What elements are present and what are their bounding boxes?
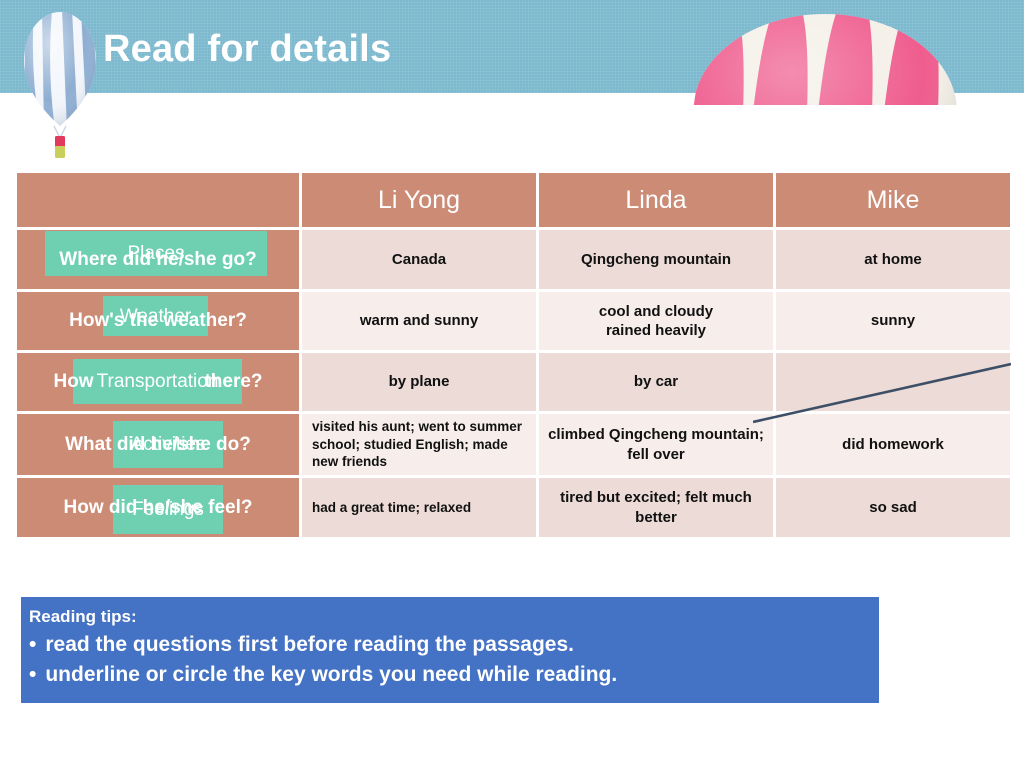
answer-cell: warm and sunny: [302, 292, 536, 350]
question-cell-weather: Weather How's the weather?: [17, 292, 299, 350]
question-cell-activities: Activities What did he/she do?: [17, 414, 299, 475]
table-row: Weather How's the weather? warm and sunn…: [17, 292, 1010, 350]
question-text: How did he/she feel?: [17, 497, 299, 519]
reading-tips-item-text: underline or circle the key words you ne…: [45, 663, 617, 686]
table-row: Places Where did he/she go? Canada Qingc…: [17, 230, 1010, 289]
reading-tips-box: Reading tips: •read the questions first …: [21, 597, 879, 703]
details-table: Li Yong Linda Mike Places Where did he/s…: [14, 170, 1006, 540]
question-text-post: there?: [204, 371, 262, 392]
reading-tips-item: •underline or circle the key words you n…: [29, 660, 879, 690]
header-cell-mike: Mike: [776, 173, 1010, 227]
header-cell-blank: [17, 173, 299, 227]
table-header-row: Li Yong Linda Mike: [17, 173, 1010, 227]
question-text: What did he/she do?: [17, 434, 299, 456]
answer-cell: Qingcheng mountain: [539, 230, 773, 289]
bullet-icon: •: [29, 633, 36, 656]
answer-cell: by plane: [302, 353, 536, 411]
table-row: Feelings How did he/she feel? had a grea…: [17, 478, 1010, 537]
question-cell-places: Places Where did he/she go?: [17, 230, 299, 289]
answer-cell: at home: [776, 230, 1010, 289]
answer-cell: Canada: [302, 230, 536, 289]
answer-cell: sunny: [776, 292, 1010, 350]
answer-cell: visited his aunt; went to summer school;…: [302, 414, 536, 475]
hot-air-balloon-blue-striped-icon: [22, 10, 98, 160]
question-text-pre: How: [53, 371, 93, 392]
page-title: Read for details: [103, 28, 391, 71]
question-cell-feelings: Feelings How did he/she feel?: [17, 478, 299, 537]
answer-cell: cool and cloudyrained heavily: [539, 292, 773, 350]
question-text: Where did he/she go?: [17, 249, 299, 271]
question-cell-transportation: Transportation How there?: [17, 353, 299, 411]
answer-cell: tired but excited; felt much better: [539, 478, 773, 537]
answer-cell: by car: [539, 353, 773, 411]
answer-cell: had a great time; relaxed: [302, 478, 536, 537]
bullet-icon: •: [29, 663, 36, 686]
reading-tips-item: •read the questions first before reading…: [29, 630, 879, 660]
answer-cell-struck-out: [776, 353, 1010, 411]
reading-tips-title: Reading tips:: [29, 605, 879, 630]
table-row: Transportation How there? by plane by ca…: [17, 353, 1010, 411]
header-cell-linda: Linda: [539, 173, 773, 227]
answer-cell: so sad: [776, 478, 1010, 537]
table-row: Activities What did he/she do? visited h…: [17, 414, 1010, 475]
header-cell-li-yong: Li Yong: [302, 173, 536, 227]
answer-cell: did homework: [776, 414, 1010, 475]
reading-tips-item-text: read the questions first before reading …: [45, 633, 574, 656]
question-text: How's the weather?: [17, 310, 299, 332]
answer-cell: climbed Qingcheng mountain; fell over: [539, 414, 773, 475]
